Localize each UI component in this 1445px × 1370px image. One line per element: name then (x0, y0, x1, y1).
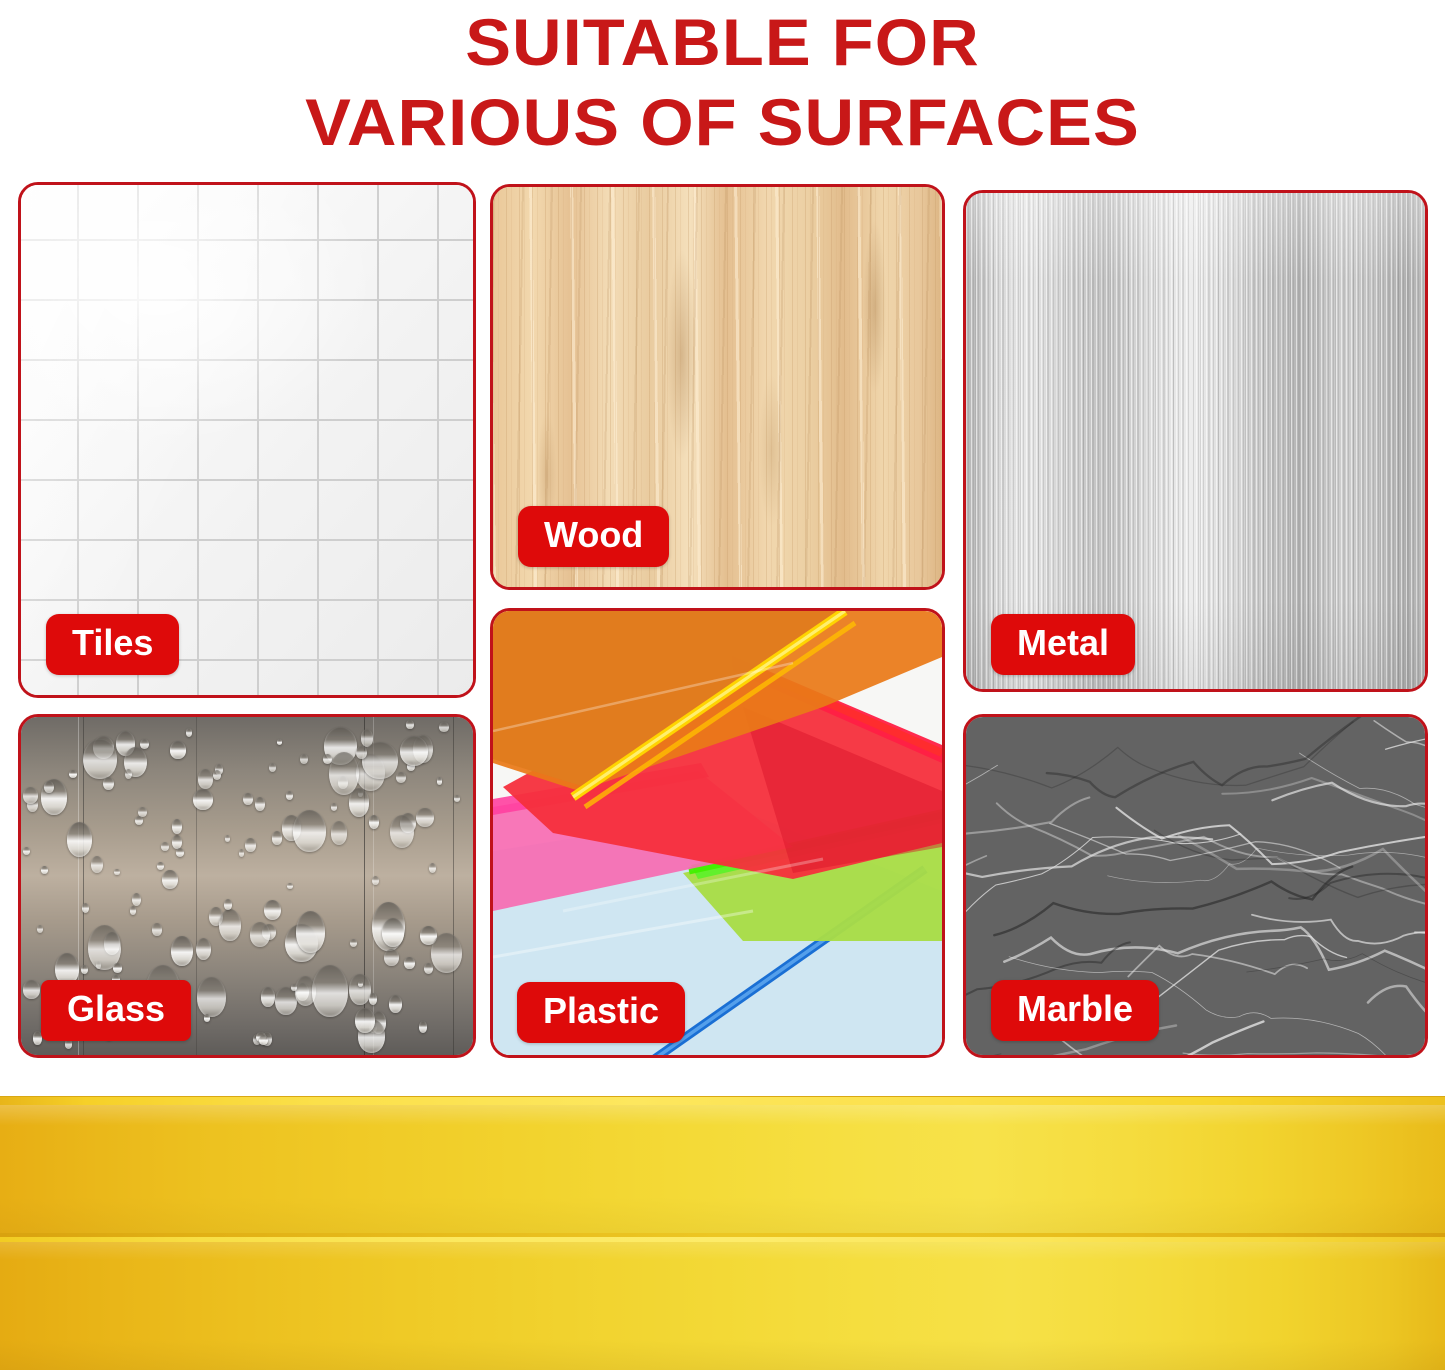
surface-panel-wood: Wood (490, 184, 945, 590)
bar-lower-body (0, 1242, 1445, 1370)
surface-label-plastic: Plastic (517, 982, 685, 1043)
bar-upper-body (0, 1105, 1445, 1233)
surface-label-glass: Glass (41, 980, 191, 1041)
surface-panel-plastic: Plastic (490, 608, 945, 1058)
yellow-squeegee-blade (0, 1096, 1445, 1370)
bar-top-highlight (0, 1096, 1445, 1105)
surface-label-wood: Wood (518, 506, 669, 567)
infographic-page: SUITABLE FOR VARIOUS OF SURFACES Tiles W… (0, 0, 1445, 1370)
surface-label-tiles: Tiles (46, 614, 179, 675)
page-title: SUITABLE FOR VARIOUS OF SURFACES (0, 2, 1445, 162)
surface-panel-marble: Marble (963, 714, 1428, 1058)
title-line-2: VARIOUS OF SURFACES (0, 82, 1445, 162)
surface-label-metal: Metal (991, 614, 1135, 675)
title-line-1: SUITABLE FOR (0, 2, 1445, 82)
surface-panel-glass: Glass (18, 714, 476, 1058)
surface-panel-tiles: Tiles (18, 182, 476, 698)
surface-label-marble: Marble (991, 980, 1159, 1041)
surface-panel-metal: Metal (963, 190, 1428, 692)
